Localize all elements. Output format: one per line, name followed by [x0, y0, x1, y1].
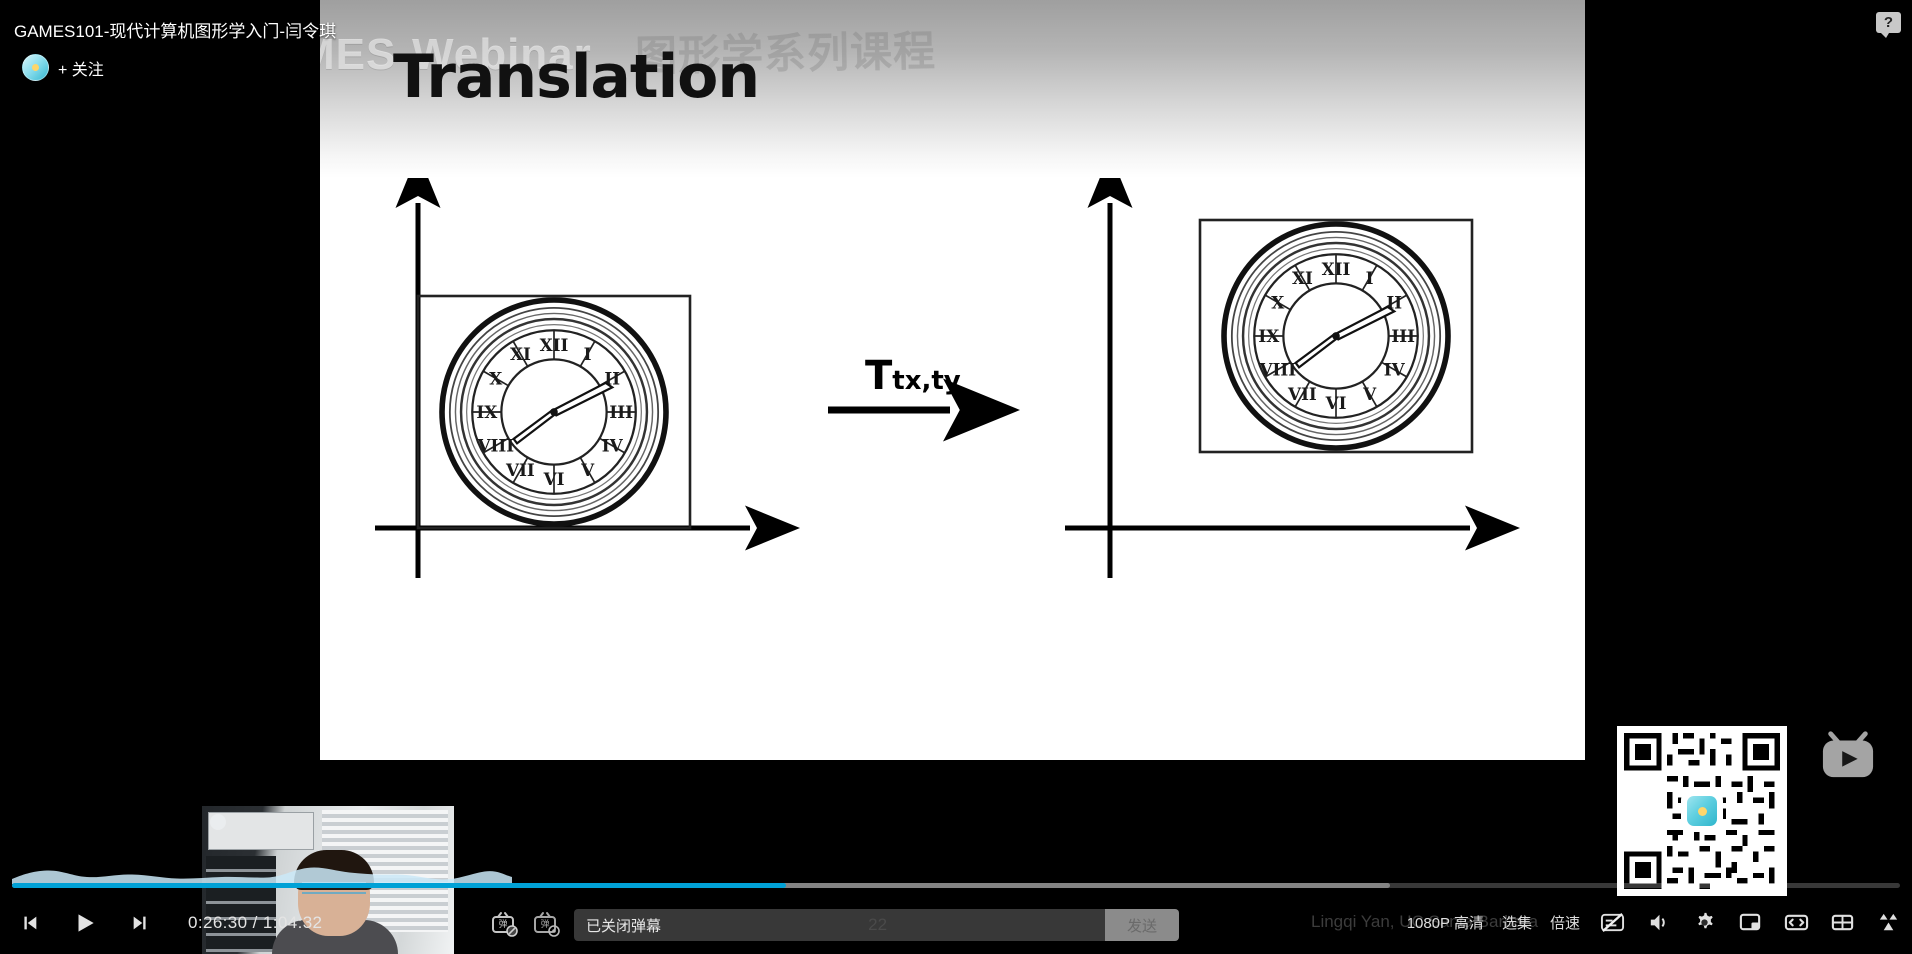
left-diagram — [375, 203, 750, 578]
fullscreen-icon[interactable] — [1874, 908, 1902, 936]
time-display: 0:26:30 / 1:04:32 — [188, 913, 322, 933]
playback-controls: 0:26:30 / 1:04:32 — [12, 906, 322, 940]
progress-bar-track[interactable] — [12, 883, 1900, 888]
danmaku-settings-icon[interactable]: 弹 — [532, 911, 560, 939]
translation-figure: XII I II III IV V VI VII VIII IX X — [320, 178, 1585, 760]
top-bar-scrim — [0, 0, 320, 96]
episodes-button[interactable]: 选集 — [1502, 912, 1532, 933]
next-episode-icon[interactable] — [124, 906, 158, 940]
bilibili-tv-logo — [1817, 728, 1879, 782]
widescreen-icon[interactable] — [1782, 908, 1810, 936]
right-controls: 1080P 高清 选集 倍速 — [1407, 908, 1902, 936]
web-fullscreen-icon[interactable] — [1828, 908, 1856, 936]
follow-button[interactable]: + 关注 — [58, 56, 104, 80]
danmaku-count: 22 — [868, 915, 887, 935]
volume-icon[interactable] — [1644, 908, 1672, 936]
player-top-bar: GAMES101-现代计算机图形学入门-闫令琪 + 关注 ? — [0, 0, 1912, 96]
danmaku-off-icon[interactable]: 弹 — [490, 911, 518, 939]
slide-body: Ttx,ty — [320, 178, 1585, 760]
speed-selector[interactable]: 倍速 — [1550, 912, 1580, 933]
control-row: 0:26:30 / 1:04:32 弹 弹 — [0, 894, 1912, 954]
gear-icon[interactable] — [1690, 908, 1718, 936]
danmaku-input-placeholder: 已关闭弹幕 — [586, 915, 661, 936]
progress-played — [12, 883, 786, 888]
progress-zone[interactable] — [12, 864, 1900, 890]
svg-text:弹: 弹 — [540, 918, 549, 930]
svg-text:弹: 弹 — [498, 918, 507, 930]
subtitle-off-icon[interactable] — [1598, 908, 1626, 936]
play-icon[interactable] — [68, 906, 102, 940]
slide-canvas: GAMES-Webinar 图形学系列课程 Translation Ttx,ty — [320, 0, 1585, 760]
danmaku-send-button[interactable]: 发送 — [1105, 909, 1179, 941]
help-tooltip-icon[interactable]: ? — [1876, 12, 1901, 33]
right-diagram — [1065, 203, 1472, 578]
player-control-bar: 0:26:30 / 1:04:32 弹 弹 — [0, 862, 1912, 954]
qr-center-logo — [1681, 790, 1723, 832]
quality-selector[interactable]: 1080P 高清 — [1407, 912, 1484, 933]
danmaku-heatmap — [12, 864, 512, 884]
picture-in-picture-icon[interactable] — [1736, 908, 1764, 936]
bilibili-video-player: GAMES-Webinar 图形学系列课程 Translation Ttx,ty — [0, 0, 1912, 954]
danmaku-controls: 弹 弹 已关闭弹幕 22 发送 — [490, 909, 1179, 941]
previous-episode-icon[interactable] — [12, 906, 46, 940]
recording-indicator — [210, 814, 226, 830]
uploader-row[interactable]: + 关注 — [22, 54, 104, 81]
avatar[interactable] — [22, 54, 49, 81]
video-title: GAMES101-现代计算机图形学入门-闫令琪 — [14, 17, 336, 42]
danmaku-input[interactable]: 已关闭弹幕 22 发送 — [574, 909, 1179, 941]
